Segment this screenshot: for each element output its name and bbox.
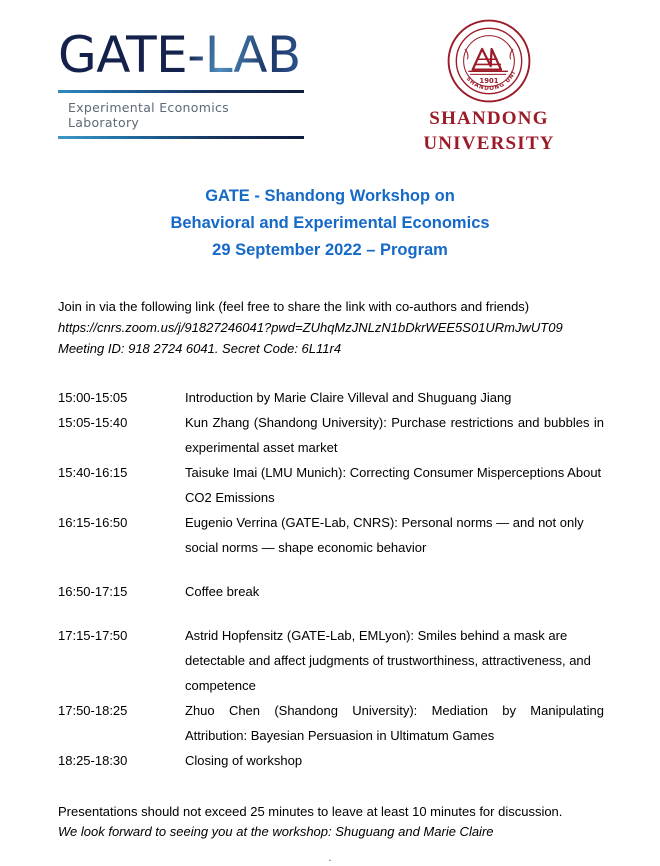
schedule-time: 15:40-16:15 — [58, 460, 185, 485]
gate-lab-wordmark: GATE-LAB — [58, 30, 304, 86]
title-line-1: GATE - Shandong Workshop on — [0, 183, 660, 210]
zoom-link[interactable]: https://cnrs.zoom.us/j/91827246041?pwd=Z… — [58, 317, 604, 338]
schedule-time: 17:15-17:50 — [58, 623, 185, 648]
join-link-block: Join in via the following link (feel fre… — [58, 296, 604, 359]
program-schedule: 15:00-15:05 Introduction by Marie Claire… — [58, 385, 604, 773]
title-line-2: Behavioral and Experimental Economics — [0, 210, 660, 237]
schedule-row-break: 16:50-17:15 Coffee break — [58, 579, 604, 604]
shandong-university-logo: 1901 SHANDONG UNIVERSITY SHANDONG UNIVER… — [404, 18, 574, 155]
schedule-row: 18:25-18:30 Closing of workshop — [58, 748, 604, 773]
schedule-time: 16:15-16:50 — [58, 510, 185, 535]
document-footer: Presentations should not exceed 25 minut… — [58, 803, 606, 842]
schedule-row: 17:50-18:25 Zhuo Chen (Shandong Universi… — [58, 698, 604, 748]
schedule-row: 17:15-17:50 Astrid Hopfensitz (GATE-Lab,… — [58, 623, 604, 698]
schedule-time: 17:50-18:25 — [58, 698, 185, 723]
seal-year: 1901 — [479, 77, 498, 85]
join-intro-text: Join in via the following link (feel fre… — [58, 296, 604, 317]
schedule-time: 18:25-18:30 — [58, 748, 185, 773]
schedule-time: 15:05-15:40 — [58, 410, 185, 435]
shandong-name-line2: UNIVERSITY — [404, 133, 574, 154]
schedule-description: Introduction by Marie Claire Villeval an… — [185, 385, 604, 410]
logo-divider-bottom — [58, 136, 304, 139]
schedule-row: 16:15-16:50 Eugenio Verrina (GATE-Lab, C… — [58, 510, 604, 560]
shandong-name-line1: SHANDONG — [404, 108, 574, 129]
gate-lab-logo: GATE-LAB Experimental Economics Laborato… — [58, 30, 304, 139]
document-header: GATE-LAB Experimental Economics Laborato… — [0, 0, 660, 165]
page-title: GATE - Shandong Workshop on Behavioral a… — [0, 183, 660, 264]
page-number: . — [0, 852, 660, 864]
schedule-row: 15:05-15:40 Kun Zhang (Shandong Universi… — [58, 410, 604, 460]
shandong-seal-icon: 1901 SHANDONG UNIVERSITY — [446, 18, 532, 104]
meeting-credentials: Meeting ID: 918 2724 6041. Secret Code: … — [58, 338, 604, 359]
gate-lab-tagline: Experimental Economics Laboratory — [58, 93, 304, 136]
schedule-description: Taisuke Imai (LMU Munich): Correcting Co… — [185, 460, 604, 510]
schedule-row: 15:00-15:05 Introduction by Marie Claire… — [58, 385, 604, 410]
signoff-text: We look forward to seeing you at the wor… — [58, 823, 606, 841]
schedule-row: 15:40-16:15 Taisuke Imai (LMU Munich): C… — [58, 460, 604, 510]
schedule-description: Coffee break — [185, 579, 604, 604]
schedule-time: 16:50-17:15 — [58, 579, 185, 604]
schedule-description: Eugenio Verrina (GATE-Lab, CNRS): Person… — [185, 510, 604, 560]
schedule-description: Astrid Hopfensitz (GATE-Lab, EMLyon): Sm… — [185, 623, 604, 698]
schedule-description: Kun Zhang (Shandong University): Purchas… — [185, 410, 604, 460]
schedule-description: Zhuo Chen (Shandong University): Mediati… — [185, 698, 604, 748]
schedule-description: Closing of workshop — [185, 748, 604, 773]
title-line-3: 29 September 2022 – Program — [0, 237, 660, 264]
schedule-time: 15:00-15:05 — [58, 385, 185, 410]
presentation-note: Presentations should not exceed 25 minut… — [58, 803, 606, 821]
